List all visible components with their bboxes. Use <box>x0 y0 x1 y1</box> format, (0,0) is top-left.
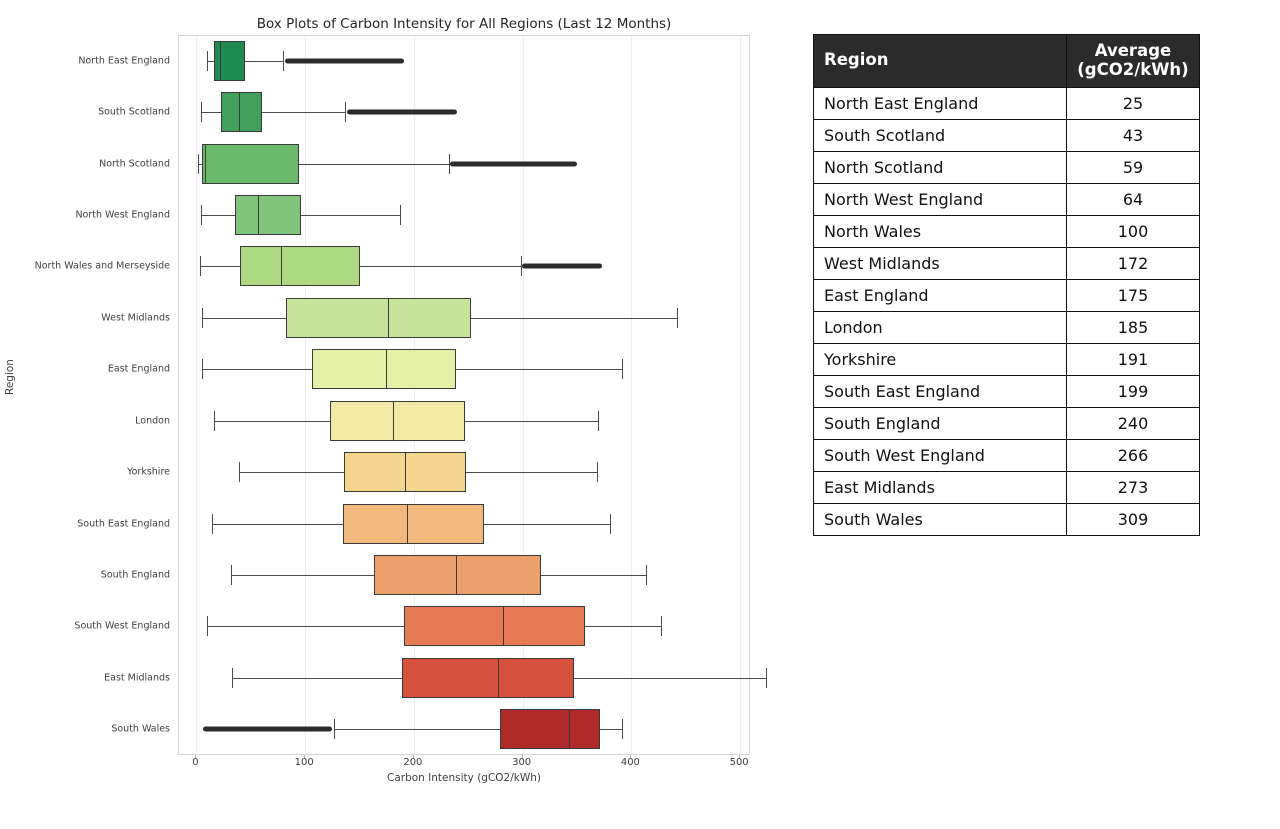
whisker-low-line <box>214 421 330 422</box>
box-iqr <box>312 349 457 389</box>
whisker-high-line <box>600 729 622 730</box>
whisker-high-line <box>484 524 610 525</box>
cell-region: North Wales <box>814 215 1067 247</box>
cell-region: South England <box>814 407 1067 439</box>
x-tick-label: 200 <box>403 757 422 768</box>
boxplot-row <box>0 41 790 81</box>
median-line <box>239 92 240 132</box>
outlier-points <box>450 161 577 166</box>
whisker-low-line <box>239 472 344 473</box>
whisker-low-line <box>231 575 373 576</box>
box-iqr <box>214 41 246 81</box>
x-tick-label: 400 <box>621 757 640 768</box>
boxplot-row <box>0 504 790 544</box>
x-tick-label: 100 <box>295 757 314 768</box>
whisker-high-cap <box>610 514 611 534</box>
whisker-high-line <box>541 575 645 576</box>
box-iqr <box>402 658 574 698</box>
median-line <box>388 298 389 338</box>
whisker-high-line <box>456 369 621 370</box>
outlier-points <box>285 58 405 63</box>
cell-region: West Midlands <box>814 247 1067 279</box>
table-row: London185 <box>814 311 1200 343</box>
box-iqr <box>235 195 301 235</box>
table-row: North Scotland59 <box>814 151 1200 183</box>
cell-average: 172 <box>1067 247 1200 279</box>
chart-title: Box Plots of Carbon Intensity for All Re… <box>178 16 750 32</box>
boxplot-row <box>0 401 790 441</box>
cell-average: 273 <box>1067 471 1200 503</box>
whisker-low-line <box>201 112 222 113</box>
table-row: South England240 <box>814 407 1200 439</box>
table-head: Region Average (gCO2/kWh) <box>814 35 1200 88</box>
whisker-low-cap <box>207 616 208 636</box>
box-iqr <box>286 298 471 338</box>
boxplot-row <box>0 452 790 492</box>
cell-average: 64 <box>1067 183 1200 215</box>
table-row: North West England64 <box>814 183 1200 215</box>
whisker-low-cap <box>201 102 202 122</box>
whisker-high-cap <box>661 616 662 636</box>
box-iqr <box>221 92 261 132</box>
table-row: Yorkshire191 <box>814 343 1200 375</box>
cell-average: 240 <box>1067 407 1200 439</box>
x-tick-label: 300 <box>512 757 531 768</box>
table-body: North East England25South Scotland43Nort… <box>814 87 1200 535</box>
whisker-high-cap <box>677 308 678 328</box>
median-line <box>569 709 570 749</box>
box-iqr <box>330 401 465 441</box>
whisker-low-line <box>202 369 312 370</box>
x-axis-label: Carbon Intensity (gCO2/kWh) <box>178 772 750 784</box>
whisker-low-line <box>207 626 404 627</box>
whisker-low-line <box>212 524 344 525</box>
box-iqr <box>374 555 541 595</box>
median-line <box>498 658 499 698</box>
boxplot-row <box>0 658 790 698</box>
box-iqr <box>500 709 600 749</box>
boxplot-row <box>0 195 790 235</box>
table-row: West Midlands172 <box>814 247 1200 279</box>
whisker-low-cap <box>214 411 215 431</box>
cell-region: East England <box>814 279 1067 311</box>
median-line <box>205 144 206 184</box>
cell-average: 100 <box>1067 215 1200 247</box>
whisker-low-cap <box>200 256 201 276</box>
whisker-high-line <box>245 61 283 62</box>
cell-average: 266 <box>1067 439 1200 471</box>
whisker-low-cap <box>212 514 213 534</box>
regional-average-table: Region Average (gCO2/kWh) North East Eng… <box>813 34 1200 536</box>
cell-average: 25 <box>1067 87 1200 119</box>
boxplot-row <box>0 606 790 646</box>
table-row: South West England266 <box>814 439 1200 471</box>
table-row: South Wales309 <box>814 503 1200 535</box>
whisker-high-line <box>299 164 449 165</box>
whisker-high-line <box>585 626 661 627</box>
box-iqr <box>240 246 360 286</box>
boxplot-row <box>0 298 790 338</box>
boxplot-row <box>0 555 790 595</box>
column-header-average-line2: (gCO2/kWh) <box>1077 61 1189 80</box>
box-iqr <box>202 144 299 184</box>
cell-region: South West England <box>814 439 1067 471</box>
whisker-high-line <box>465 421 598 422</box>
table-row: South East England199 <box>814 375 1200 407</box>
whisker-low-cap <box>239 462 240 482</box>
whisker-low-line <box>200 266 240 267</box>
median-line <box>405 452 406 492</box>
median-line <box>393 401 394 441</box>
cell-region: South Wales <box>814 503 1067 535</box>
whisker-low-cap <box>207 51 208 71</box>
median-line <box>220 41 221 81</box>
whisker-high-line <box>360 266 521 267</box>
x-tick-label: 500 <box>730 757 749 768</box>
whisker-high-cap <box>598 411 599 431</box>
whisker-low-cap <box>202 359 203 379</box>
table-header-row: Region Average (gCO2/kWh) <box>814 35 1200 88</box>
cell-region: North Scotland <box>814 151 1067 183</box>
outlier-points <box>347 110 458 115</box>
median-line <box>407 504 408 544</box>
cell-region: East Midlands <box>814 471 1067 503</box>
median-line <box>456 555 457 595</box>
whisker-high-line <box>574 678 766 679</box>
whisker-high-line <box>301 215 400 216</box>
whisker-low-line <box>232 678 402 679</box>
median-line <box>386 349 387 389</box>
outlier-points <box>203 727 332 732</box>
cell-region: South Scotland <box>814 119 1067 151</box>
cell-region: South East England <box>814 375 1067 407</box>
whisker-high-line <box>471 318 678 319</box>
cell-region: Yorkshire <box>814 343 1067 375</box>
cell-average: 59 <box>1067 151 1200 183</box>
boxplot-row <box>0 144 790 184</box>
whisker-high-cap <box>622 719 623 739</box>
whisker-low-cap <box>334 719 335 739</box>
median-line <box>281 246 282 286</box>
boxplot-row <box>0 92 790 132</box>
column-header-average: Average (gCO2/kWh) <box>1067 35 1200 88</box>
whisker-high-cap <box>646 565 647 585</box>
median-line <box>503 606 504 646</box>
cell-average: 191 <box>1067 343 1200 375</box>
median-line <box>258 195 259 235</box>
cell-region: London <box>814 311 1067 343</box>
table-row: North Wales100 <box>814 215 1200 247</box>
cell-average: 43 <box>1067 119 1200 151</box>
average-carbon-intensity-table: Region Average (gCO2/kWh) North East Eng… <box>813 34 1200 536</box>
table-row: North East England25 <box>814 87 1200 119</box>
table-row: East England175 <box>814 279 1200 311</box>
cell-average: 185 <box>1067 311 1200 343</box>
whisker-high-cap <box>622 359 623 379</box>
x-tick-label: 0 <box>192 757 198 768</box>
column-header-region: Region <box>814 35 1067 88</box>
boxplot-row <box>0 246 790 286</box>
cell-region: North East England <box>814 87 1067 119</box>
boxplot-figure: Box Plots of Carbon Intensity for All Re… <box>0 0 790 829</box>
whisker-low-cap <box>198 154 199 174</box>
whisker-high-cap <box>766 668 767 688</box>
whisker-low-cap <box>202 308 203 328</box>
cell-average: 309 <box>1067 503 1200 535</box>
whisker-low-cap <box>231 565 232 585</box>
whisker-low-line <box>202 318 286 319</box>
column-header-average-line1: Average <box>1077 42 1189 61</box>
whisker-low-line <box>201 215 235 216</box>
whisker-high-line <box>262 112 346 113</box>
whisker-high-cap <box>400 205 401 225</box>
whisker-high-line <box>466 472 596 473</box>
outlier-points <box>522 264 602 269</box>
whisker-low-cap <box>232 668 233 688</box>
table-row: South Scotland43 <box>814 119 1200 151</box>
whisker-low-cap <box>201 205 202 225</box>
box-iqr <box>404 606 585 646</box>
cell-region: North West England <box>814 183 1067 215</box>
cell-average: 199 <box>1067 375 1200 407</box>
whisker-high-cap <box>597 462 598 482</box>
box-iqr <box>343 504 483 544</box>
cell-average: 175 <box>1067 279 1200 311</box>
table-row: East Midlands273 <box>814 471 1200 503</box>
whisker-low-line <box>334 729 500 730</box>
boxplot-row <box>0 349 790 389</box>
boxplot-row <box>0 709 790 749</box>
